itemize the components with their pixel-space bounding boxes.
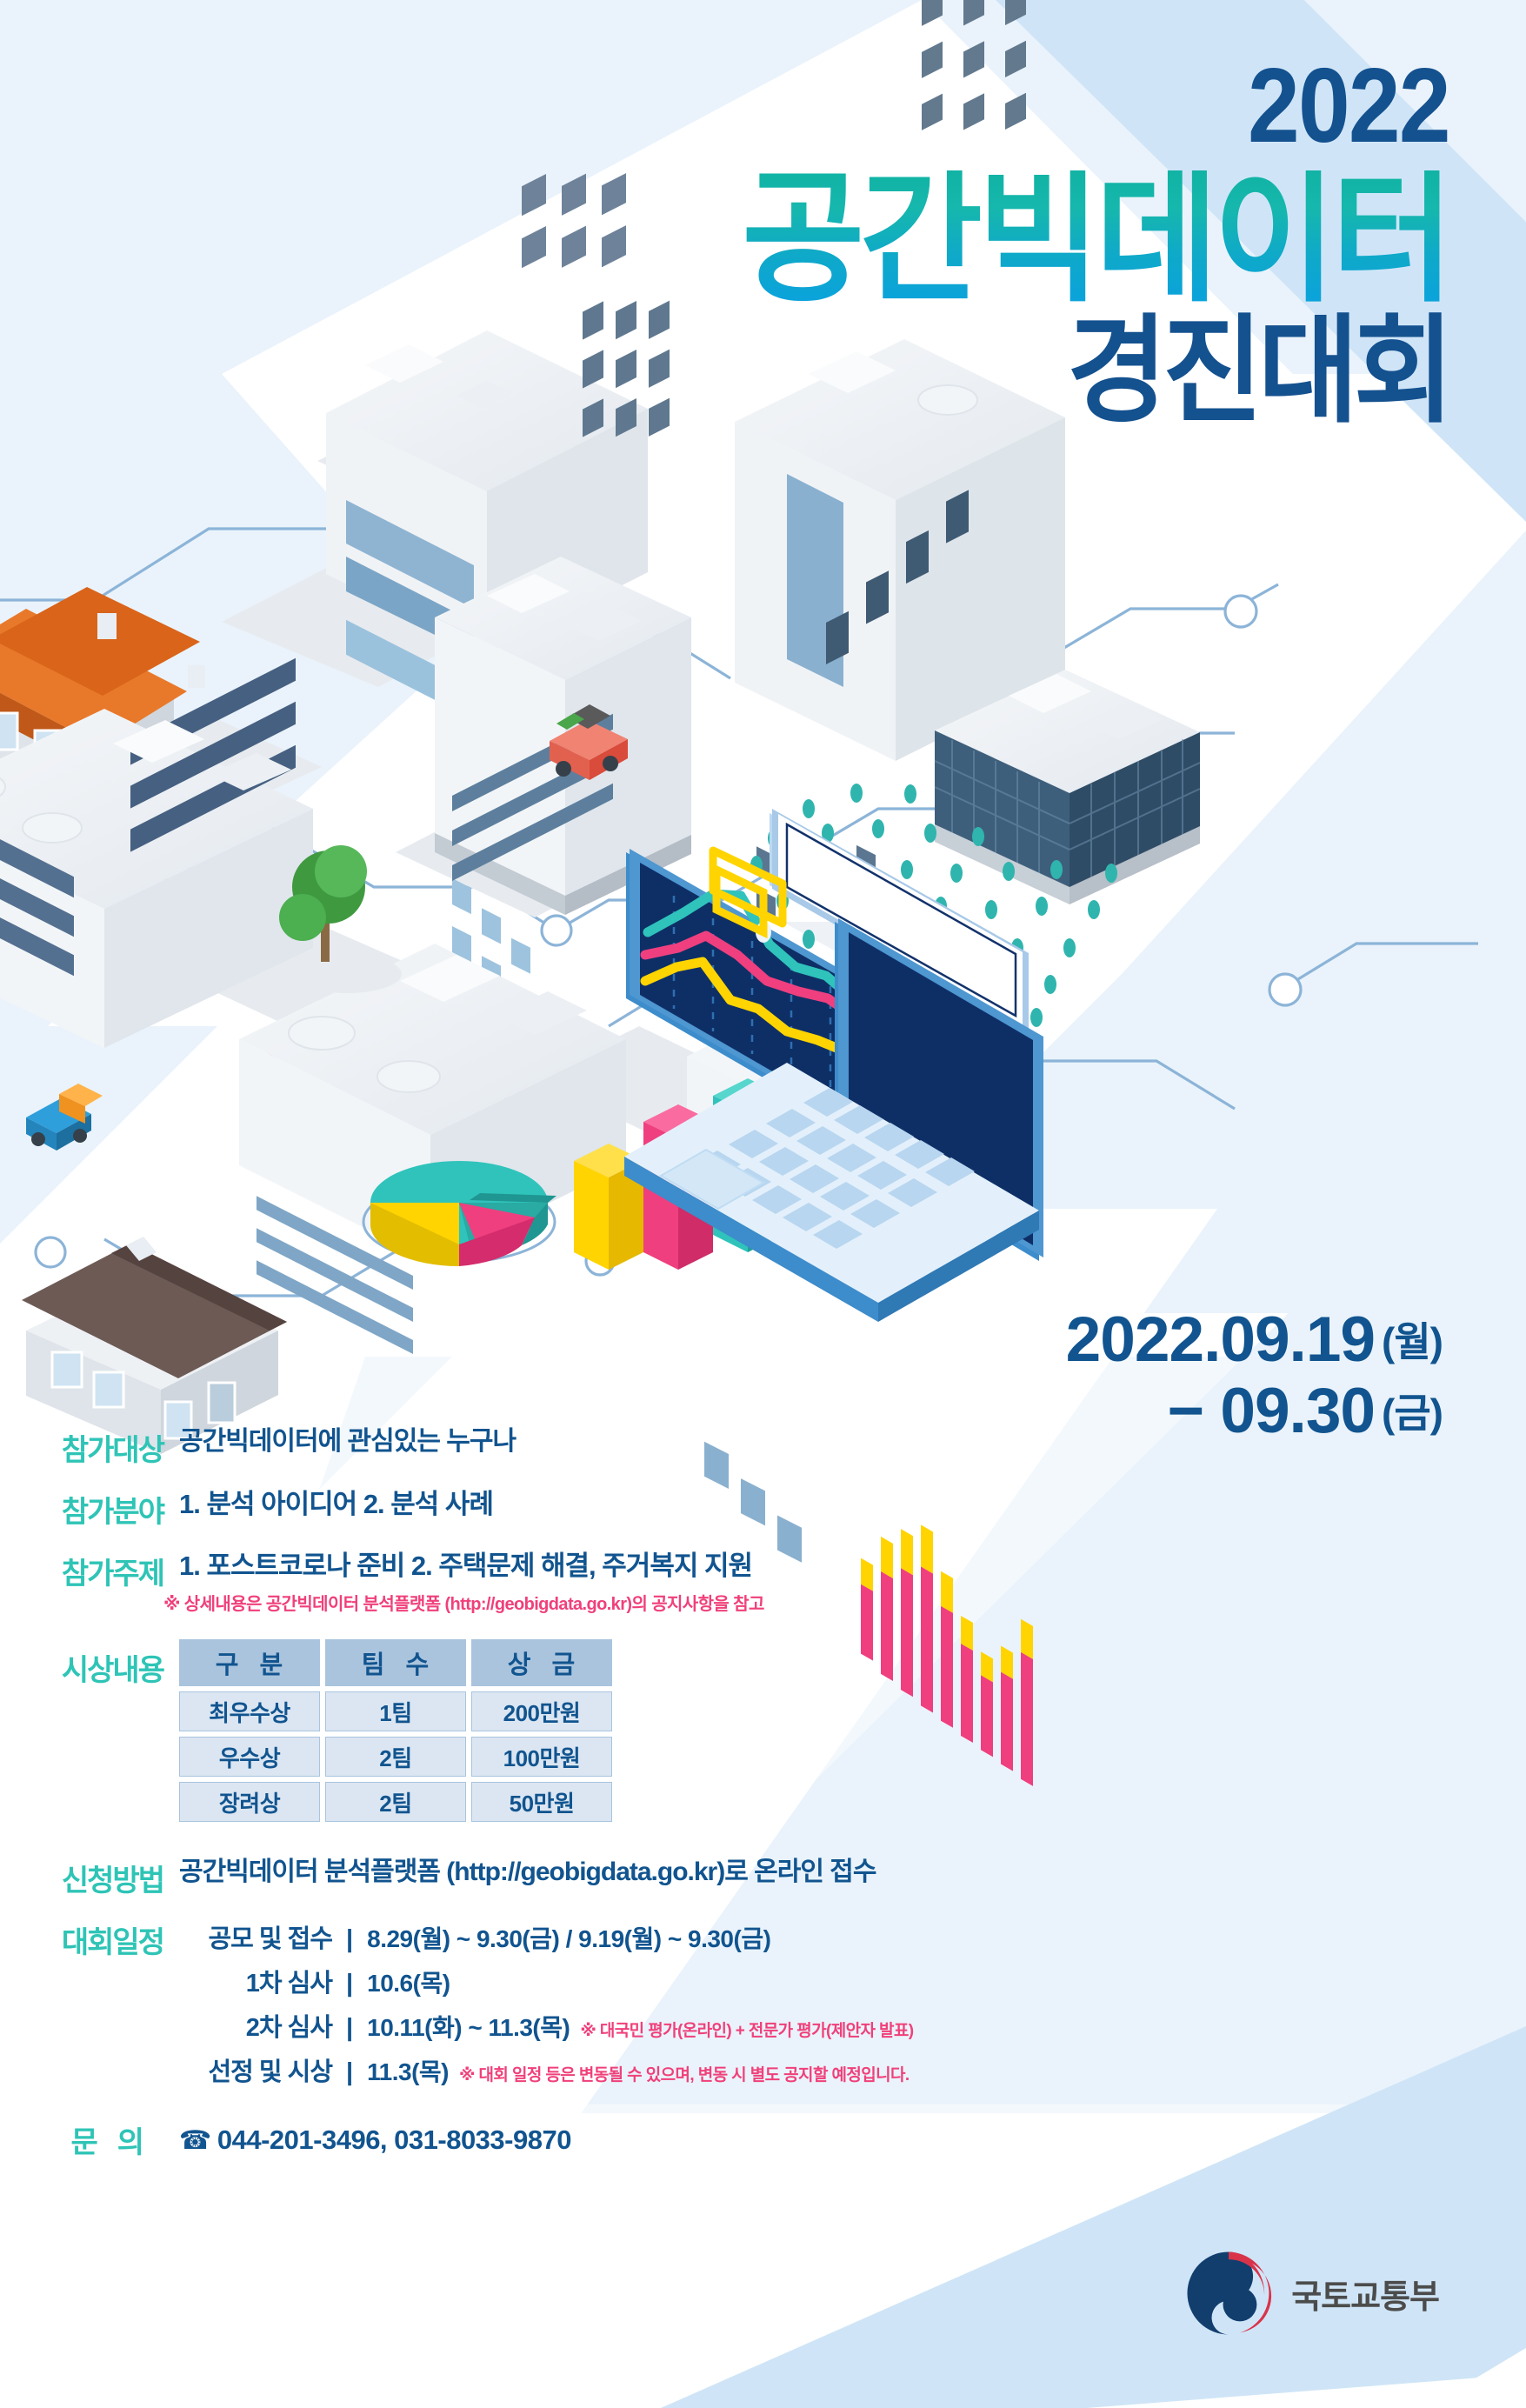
ministry-logo: 국토교통부 [1182, 2246, 1439, 2340]
event-date-start-line: 2022.09.19(월) [1066, 1304, 1443, 1376]
label-award: 시상내용 [0, 1634, 163, 1689]
schedule-separator: | [346, 2014, 353, 2043]
value-apply: 공간빅데이터 분석플랫폼 (http://geobigdata.go.kr)로 … [179, 1857, 876, 1888]
value-field: 1. 분석 아이디어 2. 분석 사례 [179, 1488, 493, 1520]
award-cell-teams: 1팀 [325, 1691, 466, 1731]
label-topic: 참가주제 [0, 1550, 163, 1592]
poster-main-title: 공간빅데이터 [742, 170, 1449, 307]
event-date-block: 2022.09.19(월) − 09.30(금) [1066, 1304, 1443, 1447]
list-item: 선정 및 시상 | 11.3(목) ※ 대회 일정 등은 변동될 수 있으며, … [179, 2051, 914, 2088]
info-row-contact: 문의 ☎044-201-3496, 031-8033-9870 [0, 2118, 1526, 2161]
table-row: 장려상 2팀 50만원 [179, 1782, 612, 1822]
schedule-separator: | [346, 2058, 353, 2087]
info-row-target: 참가대상 공간빅데이터에 관심있는 누구나 [0, 1426, 1526, 1469]
event-date-start: 2022.09.19 [1066, 1304, 1375, 1375]
info-section: 참가대상 공간빅데이터에 관심있는 누구나 참가분야 1. 분석 아이디어 2.… [0, 1426, 1526, 2161]
schedule-note: ※ 대국민 평가(온라인) + 전문가 평가(제안자 발표) [580, 2018, 913, 2041]
schedule-value: 10.11(화) ~ 11.3(목) [367, 2009, 570, 2044]
value-topic-wrap: 1. 포스트코로나 준비 2. 주택문제 해결, 주거복지 지원 ※ 상세내용은… [163, 1550, 764, 1615]
award-cell-category: 장려상 [179, 1782, 320, 1822]
schedule-value: 11.3(목) [367, 2053, 449, 2088]
table-row: 최우수상 1팀 200만원 [179, 1691, 612, 1731]
telephone-icon: ☎ [179, 2126, 211, 2155]
schedule-list: 공모 및 접수 | 8.29(월) ~ 9.30(금) / 9.19(월) ~ … [179, 1918, 914, 2096]
schedule-value: 8.29(월) ~ 9.30(금) / 9.19(월) ~ 9.30(금) [367, 1920, 770, 1955]
value-topic: 1. 포스트코로나 준비 2. 주택문제 해결, 주거복지 지원 [179, 1550, 764, 1582]
award-cell-category: 우수상 [179, 1737, 320, 1777]
schedule-separator: | [346, 1925, 353, 1954]
list-item: 1차 심사 | 10.6(목) [179, 1963, 914, 1999]
award-cell-prize: 200만원 [471, 1691, 612, 1731]
event-date-start-weekday: (월) [1382, 1319, 1443, 1364]
label-apply: 신청방법 [0, 1857, 163, 1899]
title-block: 2022 공간빅데이터 경진대회 [689, 52, 1449, 430]
schedule-name: 선정 및 시상 [179, 2051, 332, 2088]
schedule-name: 2차 심사 [179, 2007, 332, 2044]
schedule-name: 공모 및 접수 [179, 1918, 332, 1955]
korea-government-taegeuk-icon [1182, 2246, 1276, 2340]
award-cell-category: 최우수상 [179, 1691, 320, 1731]
schedule-name: 1차 심사 [179, 1963, 332, 1999]
note-topic: ※ 상세내용은 공간빅데이터 분석플랫폼 (http://geobigdata.… [163, 1590, 764, 1615]
award-table-header-category: 구 분 [179, 1639, 320, 1686]
info-row-schedule: 대회일정 공모 및 접수 | 8.29(월) ~ 9.30(금) / 9.19(… [0, 1918, 1526, 2096]
label-schedule: 대회일정 [0, 1918, 163, 1961]
award-cell-teams: 2팀 [325, 1737, 466, 1777]
info-row-award: 시상내용 구 분 팀 수 상 금 최우수상 1팀 200만원 [0, 1634, 1526, 1827]
award-table: 구 분 팀 수 상 금 최우수상 1팀 200만원 우수상 2팀 100만원 [174, 1634, 617, 1827]
value-contact: 044-201-3496, 031-8033-9870 [217, 2125, 571, 2155]
award-cell-teams: 2팀 [325, 1782, 466, 1822]
award-cell-prize: 100만원 [471, 1737, 612, 1777]
poster-sub-title: 경진대회 [742, 312, 1449, 430]
award-table-header-teams: 팀 수 [325, 1639, 466, 1686]
label-target: 참가대상 [0, 1426, 163, 1469]
schedule-value: 10.6(목) [367, 1964, 450, 1999]
ministry-logo-name: 국토교통부 [1291, 2270, 1439, 2318]
table-row: 우수상 2팀 100만원 [179, 1737, 612, 1777]
label-contact: 문의 [0, 2118, 163, 2161]
info-row-topic: 참가주제 1. 포스트코로나 준비 2. 주택문제 해결, 주거복지 지원 ※ … [0, 1550, 1526, 1615]
value-target: 공간빅데이터에 관심있는 누구나 [179, 1426, 516, 1457]
schedule-note: ※ 대회 일정 등은 변동될 수 있으며, 변동 시 별도 공지할 예정입니다. [459, 2062, 910, 2085]
list-item: 2차 심사 | 10.11(화) ~ 11.3(목) ※ 대국민 평가(온라인)… [179, 2007, 914, 2044]
award-table-header-row: 구 분 팀 수 상 금 [179, 1639, 612, 1686]
schedule-separator: | [346, 1970, 353, 1998]
poster-root: 2022 공간빅데이터 경진대회 2022.09.19(월) − 09.30(금… [0, 0, 1526, 2408]
label-field: 참가분야 [0, 1488, 163, 1531]
value-contact-wrap: ☎044-201-3496, 031-8033-9870 [179, 2125, 571, 2156]
list-item: 공모 및 접수 | 8.29(월) ~ 9.30(금) / 9.19(월) ~ … [179, 1918, 914, 1955]
award-table-header-prize: 상 금 [471, 1639, 612, 1686]
award-cell-prize: 50만원 [471, 1782, 612, 1822]
info-row-apply: 신청방법 공간빅데이터 분석플랫폼 (http://geobigdata.go.… [0, 1857, 1526, 1899]
info-row-field: 참가분야 1. 분석 아이디어 2. 분석 사례 [0, 1488, 1526, 1531]
poster-year: 2022 [780, 52, 1449, 158]
